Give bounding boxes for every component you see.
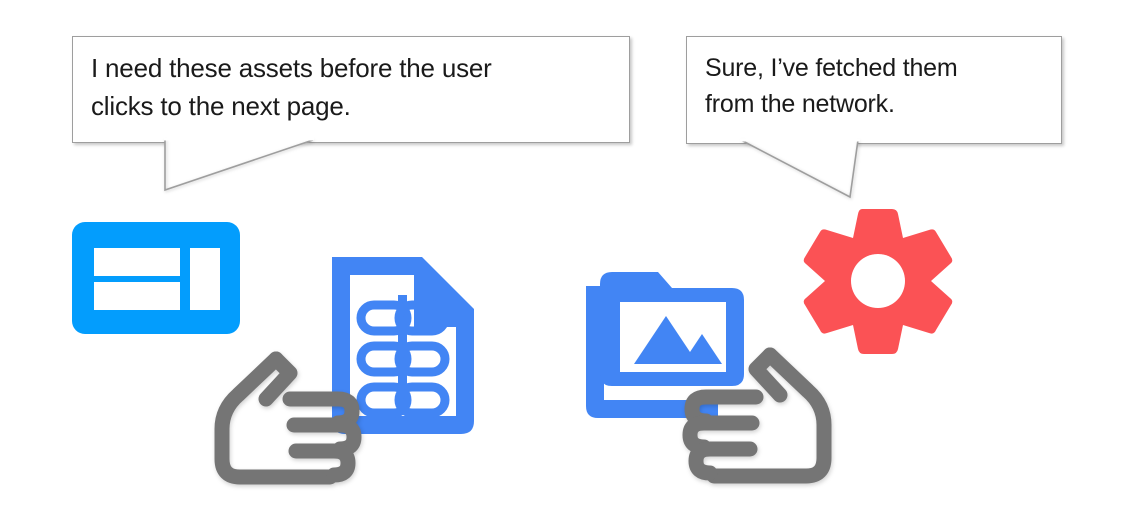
gear-icon [796, 205, 956, 360]
hand-pointing-right-icon [212, 347, 370, 492]
request-bubble-tail [60, 138, 340, 208]
response-bubble: Sure, I’ve fetched them from the network… [686, 36, 1062, 144]
illustration-canvas: I need these assets before the user clic… [0, 0, 1130, 528]
response-bubble-text: Sure, I’ve fetched them from the network… [705, 50, 1055, 122]
hand-pointing-left-icon [672, 343, 834, 493]
request-bubble-text: I need these assets before the user clic… [91, 49, 621, 125]
response-bubble-tail [680, 139, 930, 214]
layout-icon [72, 222, 240, 334]
request-bubble: I need these assets before the user clic… [72, 36, 630, 143]
